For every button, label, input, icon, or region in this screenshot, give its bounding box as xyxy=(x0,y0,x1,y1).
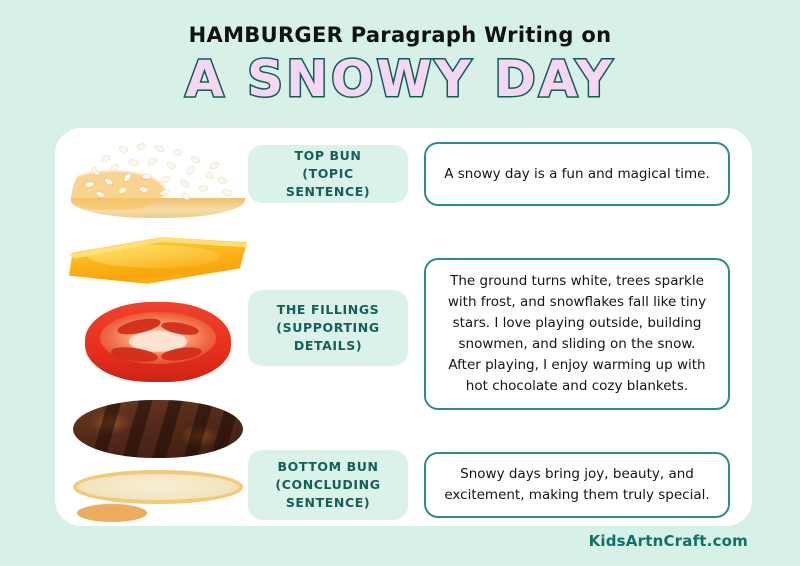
beef-patty-icon xyxy=(63,394,253,464)
hamburger-illustration xyxy=(63,132,253,526)
concluding-sentence-text: Snowy days bring joy, beauty, and excite… xyxy=(442,464,712,506)
label-fillings: THE FILLINGS (SUPPORTING DETAILS) xyxy=(248,290,408,366)
label-bottom-bun: BOTTOM BUN (CONCLUDING SENTENCE) xyxy=(248,450,408,520)
label-top-bun-text: TOP BUN (TOPIC SENTENCE) xyxy=(258,147,398,201)
sentence-box-topic: A snowy day is a fun and magical time. xyxy=(424,142,730,206)
label-bottom-bun-text: BOTTOM BUN (CONCLUDING SENTENCE) xyxy=(258,458,398,512)
page-title-block: HAMBURGER Paragraph Writing on A SNOWY D… xyxy=(0,24,800,106)
label-top-bun: TOP BUN (TOPIC SENTENCE) xyxy=(248,145,408,203)
worksheet-page: HAMBURGER Paragraph Writing on A SNOWY D… xyxy=(0,0,800,566)
page-title: A SNOWY DAY xyxy=(0,53,800,106)
patty-body xyxy=(73,400,243,458)
sentence-box-concluding: Snowy days bring joy, beauty, and excite… xyxy=(424,452,730,518)
bottom-bun-sheen xyxy=(77,504,147,522)
tomato-slice-icon xyxy=(63,298,253,386)
bottom-bun-icon xyxy=(63,470,253,528)
label-fillings-text: THE FILLINGS (SUPPORTING DETAILS) xyxy=(258,301,398,355)
tomato-body xyxy=(85,302,231,382)
site-watermark: KidsArtnCraft.com xyxy=(589,532,748,550)
topic-sentence-text: A snowy day is a fun and magical time. xyxy=(444,164,710,185)
page-subtitle: HAMBURGER Paragraph Writing on xyxy=(0,24,800,47)
cheese-slice-icon xyxy=(63,228,253,290)
bottom-bun-face xyxy=(73,470,243,504)
sentence-box-supporting: The ground turns white, trees sparkle wi… xyxy=(424,258,730,410)
supporting-details-text: The ground turns white, trees sparkle wi… xyxy=(442,271,712,397)
sesame-top-bun-icon xyxy=(63,138,253,220)
